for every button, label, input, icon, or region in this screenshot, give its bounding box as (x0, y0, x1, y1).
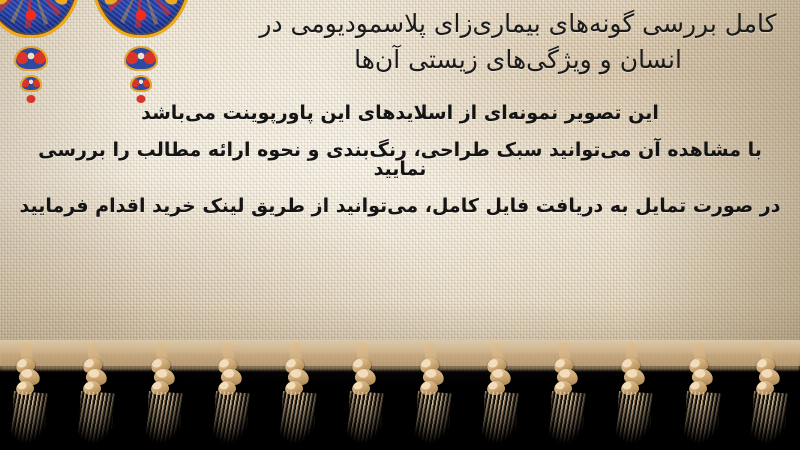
presentation-slide: کامل بررسی گونه‌های بیماری‌زای پلاسمودیو… (0, 0, 800, 450)
tassel (273, 356, 325, 448)
tassel-row (0, 356, 800, 450)
tassel-threads (145, 391, 183, 445)
tassel-threads (347, 391, 385, 445)
tassel (206, 356, 258, 448)
body-line-3: در صورت تمایل به دریافت فایل کامل، می‌تو… (12, 197, 788, 216)
pendant-small-icon (20, 75, 42, 92)
tassel-threads (616, 391, 654, 445)
tassel (542, 356, 594, 448)
pendant-dot-icon (27, 95, 36, 103)
slide-body: این تصویر نمونه‌ای از اسلایدهای این پاور… (12, 104, 788, 216)
tassel (4, 356, 56, 448)
tassel-threads (750, 391, 788, 445)
tassel (609, 356, 661, 448)
body-line-2: با مشاهده آن می‌توانید سبک طراحی، رنگ‌بن… (12, 141, 788, 179)
tassel (744, 356, 796, 448)
tassel (475, 356, 527, 448)
medallion-icon (0, 0, 82, 38)
tassel (139, 356, 191, 448)
pendant-large-icon (124, 46, 158, 71)
tassel (340, 356, 392, 448)
medallion-icon (90, 0, 192, 38)
persian-carpet-medallion-ornament (0, 0, 82, 62)
persian-carpet-medallion-ornament (90, 0, 192, 62)
tassel (71, 356, 123, 448)
pendant-large-icon (14, 46, 48, 71)
carpet-fringe-tassels (0, 340, 800, 450)
tassel-threads (78, 391, 116, 445)
ornament-group (0, 0, 200, 114)
tassel-threads (683, 391, 721, 445)
body-line-1: این تصویر نمونه‌ای از اسلایدهای این پاور… (12, 104, 788, 123)
tassel-threads (548, 391, 586, 445)
slide-title-line-2: انسان و ویژگی‌های زیستی آن‌ها (250, 42, 786, 78)
tassel-threads (279, 391, 317, 445)
slide-title: کامل بررسی گونه‌های بیماری‌زای پلاسمودیو… (250, 6, 786, 77)
pendant-small-icon (130, 75, 152, 92)
slide-title-line-1: کامل بررسی گونه‌های بیماری‌زای پلاسمودیو… (250, 6, 786, 42)
tassel-threads (481, 391, 519, 445)
tassel (408, 356, 460, 448)
tassel-threads (414, 391, 452, 445)
tassel (677, 356, 729, 448)
tassel-threads (10, 391, 48, 445)
tassel-threads (212, 391, 250, 445)
